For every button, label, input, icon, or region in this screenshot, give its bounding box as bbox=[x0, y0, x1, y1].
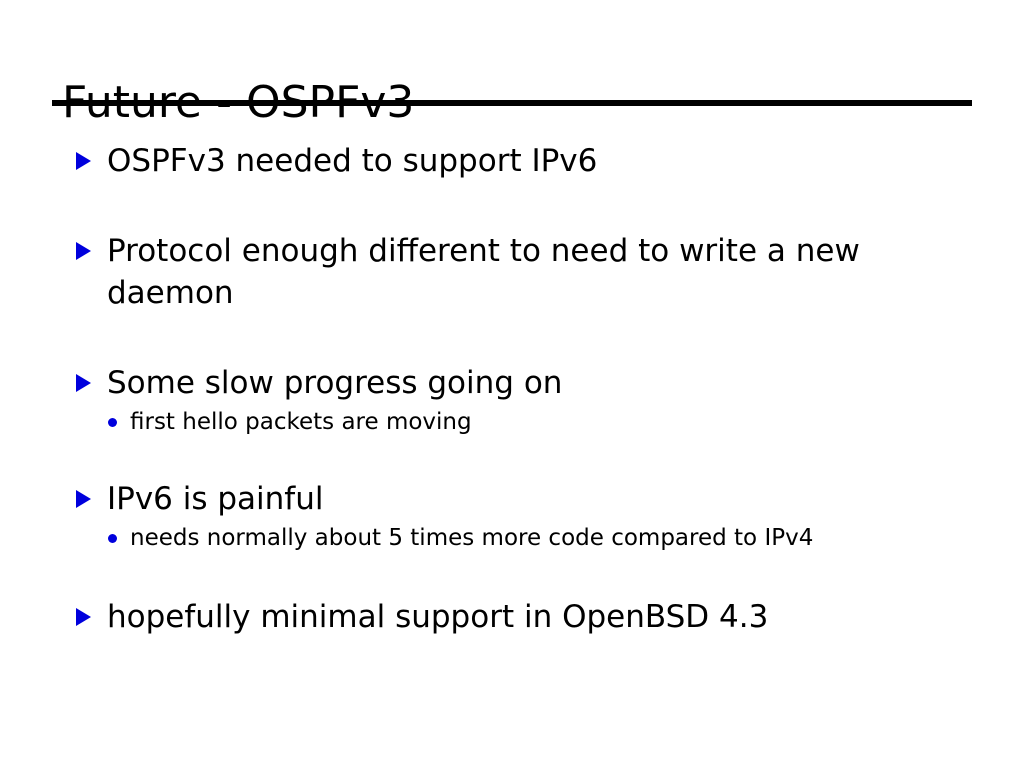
triangle-right-icon bbox=[76, 608, 91, 626]
sub-list: needs normally about 5 times more code c… bbox=[62, 522, 972, 554]
dot-icon bbox=[108, 418, 117, 427]
bullet-group: OSPFv3 needed to support IPv6 bbox=[62, 140, 972, 182]
list-item: Some slow progress going on bbox=[62, 362, 947, 404]
title-underline-rule bbox=[52, 100, 972, 106]
triangle-right-icon bbox=[76, 152, 91, 170]
list-item-label: Some slow progress going on bbox=[107, 365, 562, 401]
sub-list: first hello packets are moving bbox=[62, 406, 972, 438]
list-item-label: Protocol enough different to need to wri… bbox=[107, 233, 860, 311]
list-item: OSPFv3 needed to support IPv6 bbox=[62, 140, 947, 182]
slide: Future - OSPFv3 OSPFv3 needed to support… bbox=[0, 0, 1024, 768]
triangle-right-icon bbox=[76, 242, 91, 260]
slide-body: OSPFv3 needed to support IPv6 Protocol e… bbox=[62, 140, 972, 650]
bullet-group: Protocol enough different to need to wri… bbox=[62, 230, 972, 314]
bullet-group: hopefully minimal support in OpenBSD 4.3 bbox=[62, 596, 972, 638]
list-item-label: OSPFv3 needed to support IPv6 bbox=[107, 143, 597, 179]
triangle-right-icon bbox=[76, 490, 91, 508]
sub-list-item-label: needs normally about 5 times more code c… bbox=[130, 525, 813, 551]
list-item-label: hopefully minimal support in OpenBSD 4.3 bbox=[107, 599, 768, 635]
list-item: Protocol enough different to need to wri… bbox=[62, 230, 947, 314]
list-item-label: IPv6 is painful bbox=[107, 481, 324, 517]
sub-list-item: needs normally about 5 times more code c… bbox=[62, 522, 972, 554]
bullet-group: Some slow progress going on first hello … bbox=[62, 362, 972, 438]
sub-list-item-label: first hello packets are moving bbox=[130, 409, 472, 435]
triangle-right-icon bbox=[76, 374, 91, 392]
list-item: IPv6 is painful bbox=[62, 478, 947, 520]
dot-icon bbox=[108, 534, 117, 543]
list-item: hopefully minimal support in OpenBSD 4.3 bbox=[62, 596, 947, 638]
sub-list-item: first hello packets are moving bbox=[62, 406, 972, 438]
bullet-group: IPv6 is painful needs normally about 5 t… bbox=[62, 478, 972, 554]
